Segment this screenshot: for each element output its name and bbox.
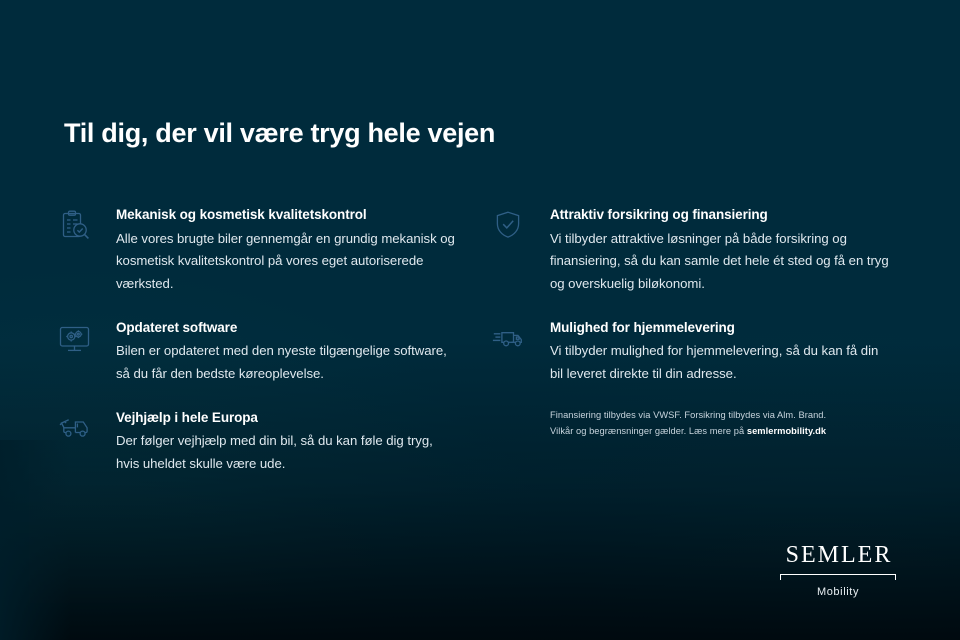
feature-body: Vi tilbyder attraktive løsninger på både… bbox=[550, 228, 892, 296]
promo-slide: Til dig, der vil være tryg hele vejen bbox=[0, 0, 960, 640]
logo-wordmark: SEMLER bbox=[778, 543, 898, 567]
feature-body: Der følger vejhjælp med din bil, så du k… bbox=[116, 430, 458, 475]
feature-title: Opdateret software bbox=[116, 318, 458, 338]
logo-subtitle: Mobility bbox=[778, 586, 898, 598]
fineprint-line-2-prefix: Vilkår og begrænsninger gælder. Læs mere… bbox=[550, 426, 747, 436]
feature-item: Mekanisk og kosmetisk kvalitetskontrol A… bbox=[58, 205, 458, 296]
tow-truck-icon bbox=[58, 412, 96, 446]
feature-title: Attraktiv forsikring og finansiering bbox=[550, 205, 892, 225]
semler-mobility-logo: SEMLER Mobility bbox=[778, 543, 898, 598]
logo-bracket-tick-right bbox=[895, 574, 896, 580]
feature-item: Opdateret software Bilen er opdateret me… bbox=[58, 318, 458, 386]
clipboard-magnifier-icon bbox=[58, 209, 96, 243]
left-feature-column: Mekanisk og kosmetisk kvalitetskontrol A… bbox=[58, 205, 458, 498]
delivery-truck-icon bbox=[492, 322, 530, 356]
logo-bracket-rule bbox=[778, 574, 898, 582]
feature-item: Vejhjælp i hele Europa Der følger vejhjæ… bbox=[58, 408, 458, 476]
shield-check-icon bbox=[492, 209, 530, 243]
fineprint-disclaimer: Finansiering tilbydes via VWSF. Forsikri… bbox=[492, 408, 842, 440]
feature-body: Vi tilbyder mulighed for hjemmelevering,… bbox=[550, 340, 892, 385]
feature-title: Mekanisk og kosmetisk kvalitetskontrol bbox=[116, 205, 458, 225]
feature-body: Alle vores brugte biler gennemgår en gru… bbox=[116, 228, 458, 296]
feature-item: Mulighed for hjemmelevering Vi tilbyder … bbox=[492, 318, 892, 386]
page-title: Til dig, der vil være tryg hele vejen bbox=[64, 118, 495, 149]
fineprint-line-1: Finansiering tilbydes via VWSF. Forsikri… bbox=[550, 410, 826, 420]
feature-title: Vejhjælp i hele Europa bbox=[116, 408, 458, 428]
feature-item: Attraktiv forsikring og finansiering Vi … bbox=[492, 205, 892, 296]
monitor-gears-icon bbox=[58, 322, 96, 356]
right-feature-column: Attraktiv forsikring og finansiering Vi … bbox=[492, 205, 892, 440]
logo-bracket-tick-left bbox=[780, 574, 781, 580]
feature-title: Mulighed for hjemmelevering bbox=[550, 318, 892, 338]
fineprint-domain: semlermobility.dk bbox=[747, 426, 826, 436]
feature-body: Bilen er opdateret med den nyeste tilgæn… bbox=[116, 340, 458, 385]
